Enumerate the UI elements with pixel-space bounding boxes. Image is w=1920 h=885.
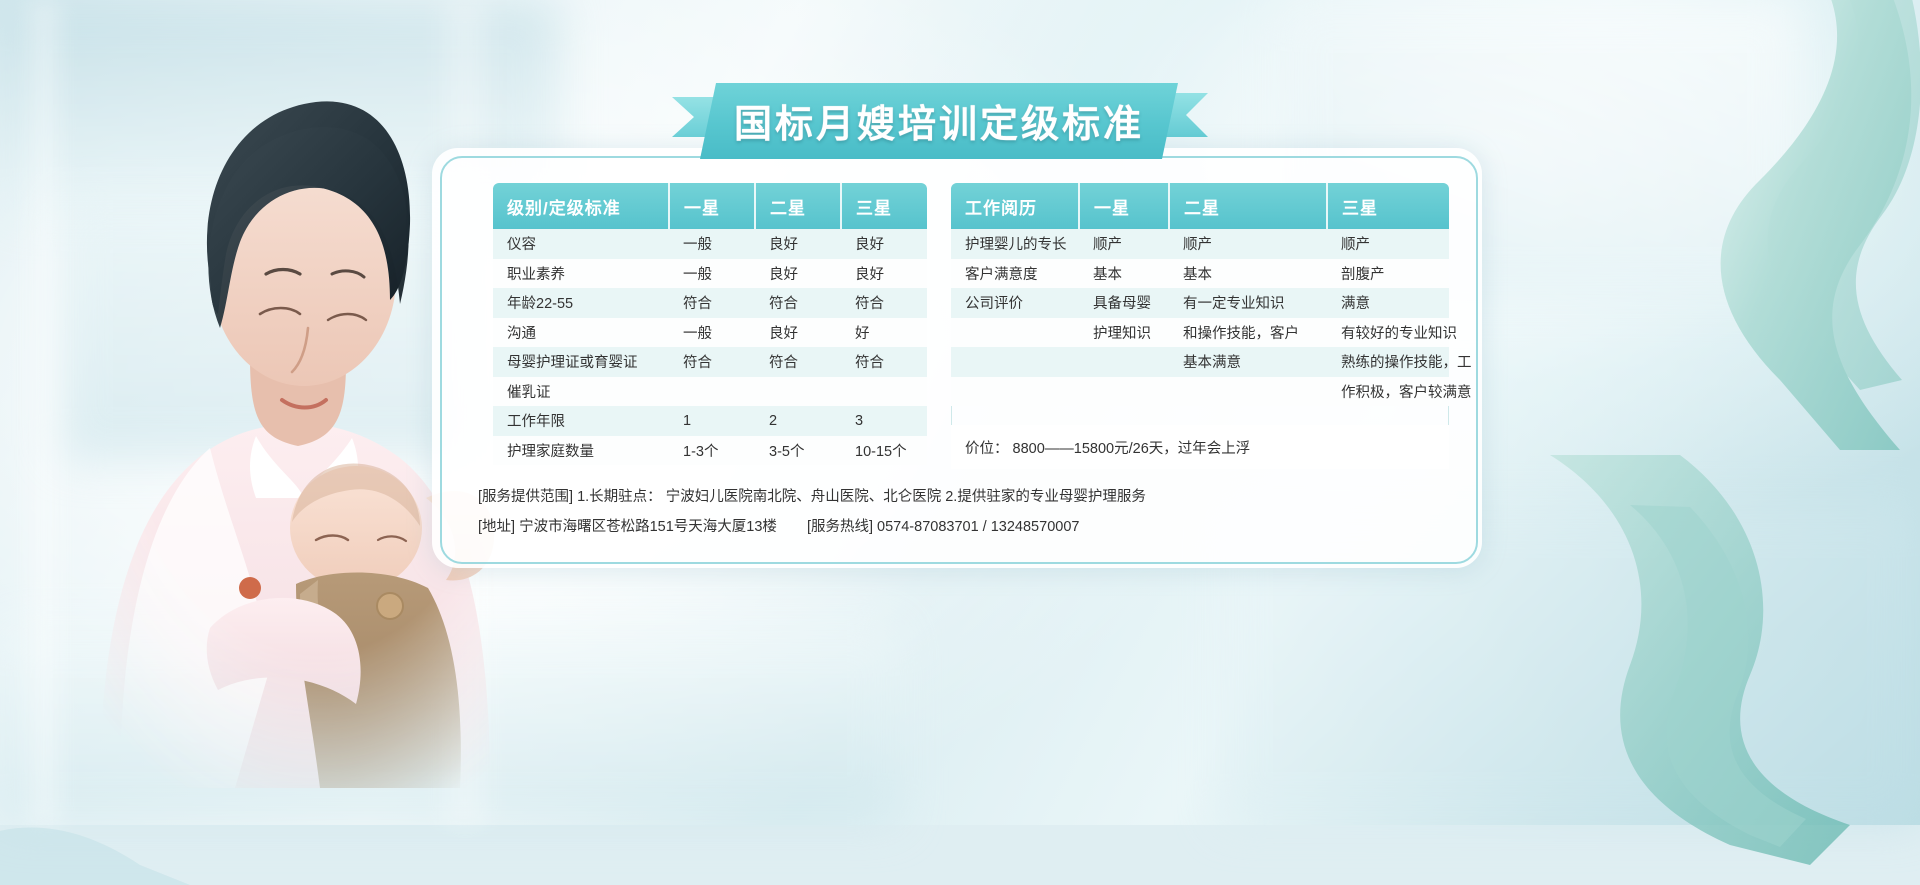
criteria-value: 1-3个 [669, 436, 755, 466]
column-header-experience: 工作阅历 [951, 183, 1079, 229]
table-row: 催乳证 [493, 377, 927, 407]
table-header-row: 工作阅历 一星 二星 三星 [951, 183, 1449, 229]
criteria-value: 良好 [841, 259, 927, 289]
criteria-label: 职业素养 [493, 259, 669, 289]
footer-address-hotline: [地址] 宁波市海曙区苍松路151号天海大厦13楼 [服务热线] 0574-87… [478, 512, 1438, 542]
table-row: 公司评价具备母婴有一定专业知识满意 [951, 288, 1449, 318]
experience-value: 满意 [1327, 288, 1449, 318]
criteria-value: 3 [841, 406, 927, 436]
page-title: 国标月嫂培训定级标准 [700, 83, 1178, 159]
experience-value: 基本满意 [1169, 347, 1327, 377]
criteria-value: 好 [841, 318, 927, 348]
table-row: 沟通一般良好好 [493, 318, 927, 348]
criteria-value: 符合 [755, 347, 841, 377]
criteria-value: 2 [755, 406, 841, 436]
title-banner: 国标月嫂培训定级标准 [700, 83, 1178, 159]
table-row: 护理知识和操作技能，客户有较好的专业知识 [951, 318, 1449, 348]
column-header-three-star: 三星 [1327, 183, 1449, 229]
table-row: 母婴护理证或育婴证符合符合符合 [493, 347, 927, 377]
experience-value: 顺产 [1169, 229, 1327, 259]
table-row: 客户满意度基本基本剖腹产 [951, 259, 1449, 289]
experience-value [1169, 377, 1327, 407]
experience-value: 顺产 [1327, 229, 1449, 259]
experience-value: 有较好的专业知识 [1327, 318, 1449, 348]
experience-value: 作积极，客户较满意 [1327, 377, 1449, 407]
criteria-label: 催乳证 [493, 377, 669, 407]
table-row: 职业素养一般良好良好 [493, 259, 927, 289]
experience-value: 顺产 [1079, 229, 1169, 259]
column-header-one-star: 一星 [1079, 183, 1169, 229]
price-note: 价位： 8800——15800元/26天，过年会上浮 [951, 425, 1449, 469]
experience-value: 剖腹产 [1327, 259, 1449, 289]
column-header-criteria: 级别/定级标准 [493, 183, 669, 229]
experience-value [1079, 377, 1169, 407]
work-experience-table: 工作阅历 一星 二星 三星 护理婴儿的专长顺产顺产顺产客户满意度基本基本剖腹产公… [951, 183, 1449, 406]
experience-value: 和操作技能，客户 [1169, 318, 1327, 348]
criteria-label: 护理家庭数量 [493, 436, 669, 466]
footer-hotline: [服务热线] 0574-87083701 / 13248570007 [807, 519, 1079, 535]
criteria-value: 符合 [841, 347, 927, 377]
grading-standard-table: 级别/定级标准 一星 二星 三星 仪容一般良好良好职业素养一般良好良好年龄22-… [493, 183, 927, 465]
experience-value: 熟练的操作技能，工 [1327, 347, 1449, 377]
criteria-label: 沟通 [493, 318, 669, 348]
experience-value: 具备母婴 [1079, 288, 1169, 318]
experience-value [1079, 347, 1169, 377]
criteria-label: 母婴护理证或育婴证 [493, 347, 669, 377]
table-header-row: 级别/定级标准 一星 二星 三星 [493, 183, 927, 229]
criteria-value: 符合 [669, 347, 755, 377]
criteria-value: 3-5个 [755, 436, 841, 466]
criteria-value: 符合 [841, 288, 927, 318]
column-header-one-star: 一星 [669, 183, 755, 229]
experience-label: 公司评价 [951, 288, 1079, 318]
experience-value: 护理知识 [1079, 318, 1169, 348]
experience-value: 基本 [1079, 259, 1169, 289]
criteria-value: 10-15个 [841, 436, 927, 466]
experience-label: 客户满意度 [951, 259, 1079, 289]
experience-label [951, 347, 1079, 377]
criteria-label: 仪容 [493, 229, 669, 259]
criteria-value: 符合 [755, 288, 841, 318]
footer-service-scope: [服务提供范围] 1.长期驻点： 宁波妇儿医院南北院、舟山医院、北仑医院 2.提… [478, 482, 1438, 512]
column-header-two-star: 二星 [1169, 183, 1327, 229]
table-row: 护理家庭数量1-3个3-5个10-15个 [493, 436, 927, 466]
experience-value: 有一定专业知识 [1169, 288, 1327, 318]
criteria-value: 1 [669, 406, 755, 436]
table-row: 基本满意熟练的操作技能，工 [951, 347, 1449, 377]
criteria-value: 良好 [755, 259, 841, 289]
criteria-value [841, 377, 927, 407]
experience-label: 护理婴儿的专长 [951, 229, 1079, 259]
footer-address: [地址] 宁波市海曙区苍松路151号天海大厦13楼 [478, 519, 777, 535]
column-header-three-star: 三星 [841, 183, 927, 229]
criteria-value: 良好 [755, 229, 841, 259]
experience-value: 基本 [1169, 259, 1327, 289]
criteria-value: 一般 [669, 318, 755, 348]
table-row: 仪容一般良好良好 [493, 229, 927, 259]
criteria-value: 一般 [669, 259, 755, 289]
criteria-label: 工作年限 [493, 406, 669, 436]
column-header-two-star: 二星 [755, 183, 841, 229]
criteria-value [755, 377, 841, 407]
criteria-value: 良好 [841, 229, 927, 259]
criteria-value: 良好 [755, 318, 841, 348]
table-row: 护理婴儿的专长顺产顺产顺产 [951, 229, 1449, 259]
table-row: 年龄22-55符合符合符合 [493, 288, 927, 318]
criteria-value: 一般 [669, 229, 755, 259]
experience-label [951, 377, 1079, 407]
criteria-value [669, 377, 755, 407]
table-row: 工作年限123 [493, 406, 927, 436]
criteria-value: 符合 [669, 288, 755, 318]
table-row: 作积极，客户较满意 [951, 377, 1449, 407]
criteria-label: 年龄22-55 [493, 288, 669, 318]
experience-label [951, 318, 1079, 348]
footer-info: [服务提供范围] 1.长期驻点： 宁波妇儿医院南北院、舟山医院、北仑医院 2.提… [478, 482, 1438, 542]
